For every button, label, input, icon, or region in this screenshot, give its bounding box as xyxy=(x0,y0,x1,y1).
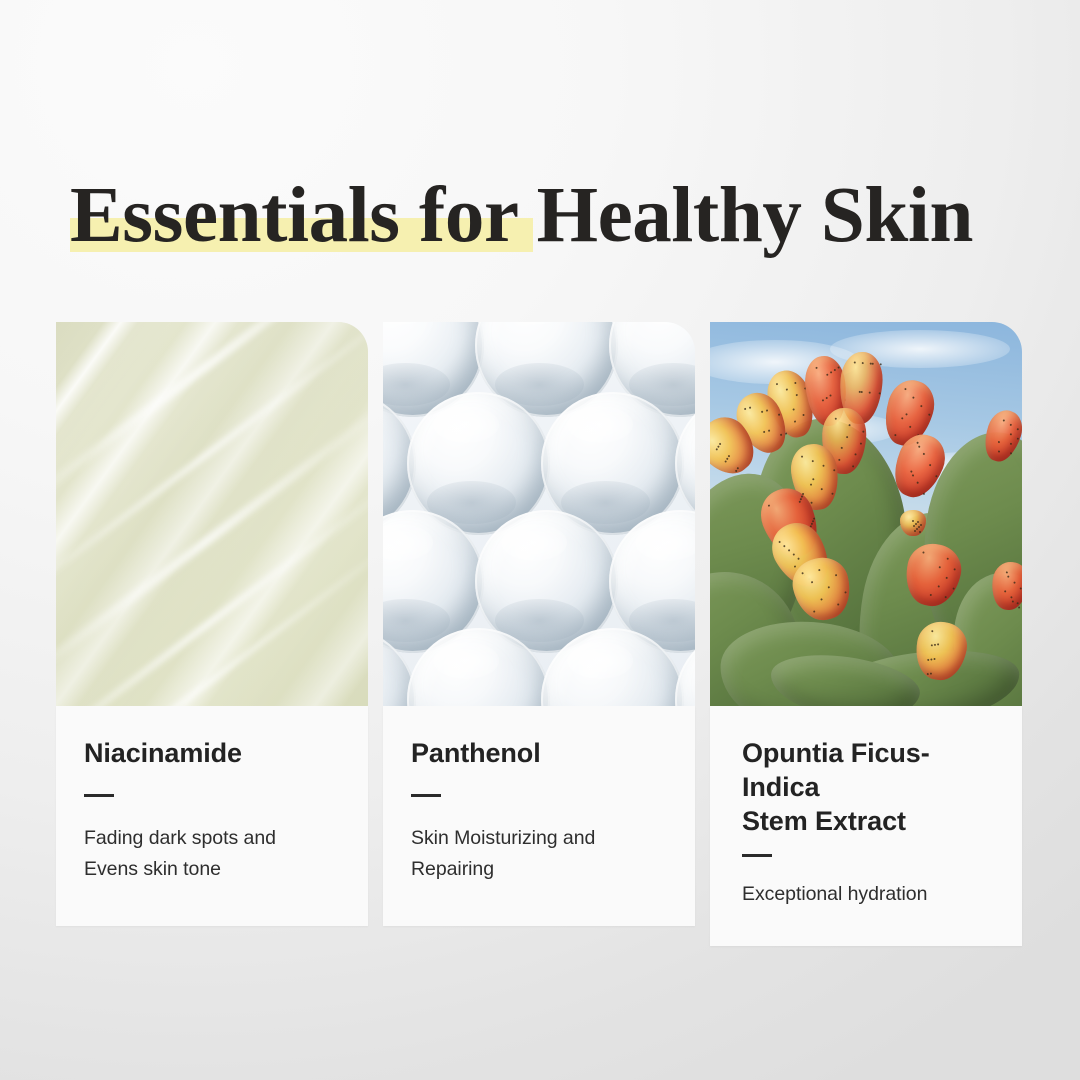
fruit-spine-shape xyxy=(855,453,857,455)
card-description-line: Evens skin tone xyxy=(84,854,340,885)
fruit-spine-shape xyxy=(838,459,840,461)
fruit-spine-shape xyxy=(801,455,803,457)
fruit-spine-shape xyxy=(826,374,828,376)
fruit-spine-shape xyxy=(786,388,788,390)
fruit-spine-shape xyxy=(1020,587,1022,589)
card-body: Niacinamide Fading dark spots and Evens … xyxy=(56,706,368,926)
fruit-spine-shape xyxy=(833,469,835,471)
fruit-spine-shape xyxy=(918,445,921,448)
page-title-block: Essentials for Healthy Skin xyxy=(70,172,973,264)
fruit-spine-shape xyxy=(872,363,874,365)
fruit-spine-shape xyxy=(917,521,919,523)
fruit-spine-shape xyxy=(783,545,786,548)
fruit-spine-shape xyxy=(861,391,863,393)
fruit-spine-shape xyxy=(798,500,801,503)
fruit-spine-shape xyxy=(1004,590,1006,592)
fruit-spine-shape xyxy=(835,574,837,576)
fruit-spine-shape xyxy=(820,598,822,600)
fruit-spine-shape xyxy=(830,371,832,373)
fruit-spine-shape xyxy=(796,394,798,396)
fruit-spine-shape xyxy=(834,369,836,371)
fruit-spine-shape xyxy=(920,524,922,526)
fruit-spine-shape xyxy=(792,408,794,410)
fruit-spine-shape xyxy=(946,577,948,579)
fruit-spine-shape xyxy=(937,643,939,645)
fruit-spine-shape xyxy=(1010,433,1013,436)
fruit-spine-shape xyxy=(844,591,846,593)
fruit-spine-shape xyxy=(1017,437,1020,440)
fruit-spine-shape xyxy=(923,493,926,496)
fruit-spine-shape xyxy=(812,460,814,462)
fruit-spine-shape xyxy=(944,596,946,598)
fruit-spine-shape xyxy=(918,526,920,528)
fruit-spine-shape xyxy=(880,363,882,365)
fruit-spine-shape xyxy=(916,441,919,444)
water-bubbles-texture-icon xyxy=(383,322,695,706)
fruit-spine-shape xyxy=(1010,596,1012,598)
card-description-line: Exceptional hydration xyxy=(742,879,994,910)
fruit-spine-shape xyxy=(736,467,739,470)
fruit-spine-shape xyxy=(724,460,727,463)
fruit-spine-shape xyxy=(1003,419,1006,422)
fruit-spine-shape xyxy=(838,366,840,368)
fruit-spine-shape xyxy=(854,361,856,363)
fruit-spine-shape xyxy=(860,443,862,445)
fruit-spine-shape xyxy=(715,448,718,451)
card-description: Exceptional hydration xyxy=(742,879,994,910)
card-title-line: Opuntia Ficus-Indica xyxy=(742,736,994,804)
page-title-text: Essentials for Healthy Skin xyxy=(70,172,973,259)
fruit-spine-shape xyxy=(894,434,896,436)
fruit-spine-shape xyxy=(797,557,800,560)
fruit-spine-shape xyxy=(837,603,839,605)
card-divider-rule xyxy=(84,794,114,797)
fruit-spine-shape xyxy=(768,504,771,507)
fruit-spine-shape xyxy=(931,630,933,632)
fruit-spine-shape xyxy=(766,409,769,412)
fruit-spine-shape xyxy=(912,520,914,522)
fruit-spine-shape xyxy=(1013,581,1015,583)
fruit-spine-shape xyxy=(792,553,795,556)
fruit-spine-shape xyxy=(794,382,796,384)
ingredient-highlight-graphic: { "theme": { "background_top": "#fbfbfb"… xyxy=(0,0,1080,1080)
fruit-spine-shape xyxy=(780,433,783,436)
fruit-spine-shape xyxy=(912,396,914,398)
fruit-spine-shape xyxy=(719,443,722,446)
fruit-spine-shape xyxy=(768,429,771,432)
fruit-spine-shape xyxy=(939,566,941,568)
fruit-spine-shape xyxy=(938,585,940,587)
fruit-spine-shape xyxy=(910,470,913,473)
card-title: Opuntia Ficus-Indica Stem Extract xyxy=(742,736,994,838)
card-description-line: Skin Moisturizing and xyxy=(411,823,667,854)
fruit-spine-shape xyxy=(1006,571,1008,573)
card-divider-rule xyxy=(742,854,772,857)
fruit-spine-shape xyxy=(828,586,830,588)
fruit-spine-shape xyxy=(810,483,812,485)
fruit-spine-shape xyxy=(776,383,778,385)
card-divider-rule xyxy=(411,794,441,797)
fruit-spine-shape xyxy=(930,672,932,674)
card-description: Skin Moisturizing and Repairing xyxy=(411,823,667,885)
fruit-spine-shape xyxy=(852,465,854,467)
fruit-spine-shape xyxy=(915,523,917,525)
card-description: Fading dark spots and Evens skin tone xyxy=(84,823,340,885)
fruit-spine-shape xyxy=(788,549,791,552)
card-body: Panthenol Skin Moisturizing and Repairin… xyxy=(383,706,695,926)
fruit-spine-shape xyxy=(778,413,781,416)
fruit-spine-shape xyxy=(920,405,922,407)
fruit-spine-shape xyxy=(1007,576,1009,578)
fruit-spine-shape xyxy=(810,502,812,504)
fruit-spine-shape xyxy=(930,658,932,660)
fruit-spine-shape xyxy=(859,391,861,393)
prickly-pear-cactus-photo-icon xyxy=(710,322,1022,706)
fruit-spine-shape xyxy=(933,658,935,660)
card-body: Opuntia Ficus-Indica Stem Extract Except… xyxy=(710,706,1022,946)
fruit-spine-shape xyxy=(931,644,933,646)
fruit-spine-shape xyxy=(916,481,919,484)
fruit-spine-shape xyxy=(1012,600,1014,602)
fruit-spine-shape xyxy=(928,413,930,415)
fruit-spine-shape xyxy=(922,551,924,553)
fruit-spine-shape xyxy=(794,420,796,422)
fruit-spine-shape xyxy=(870,363,872,365)
card-title: Niacinamide xyxy=(84,736,340,770)
fruit-spine-shape xyxy=(862,431,864,433)
fruit-spine-shape xyxy=(802,414,804,416)
fruit-spine-shape xyxy=(952,587,954,589)
fruit-spine-shape xyxy=(998,450,1001,453)
fruit-spine-shape xyxy=(735,470,738,473)
fruit-spine-shape xyxy=(935,475,938,478)
ingredient-card-opuntia-ficus-indica[interactable]: Opuntia Ficus-Indica Stem Extract Except… xyxy=(710,322,1022,946)
fruit-spine-shape xyxy=(801,572,803,574)
fruit-spine-shape xyxy=(744,408,747,411)
fruit-spine-shape xyxy=(831,493,833,495)
fruit-spine-shape xyxy=(913,525,915,527)
fruit-spine-shape xyxy=(815,367,817,369)
fruit-spine-shape xyxy=(1010,424,1013,427)
fruit-spine-shape xyxy=(778,541,781,544)
fruit-spine-shape xyxy=(1010,443,1013,446)
ingredient-card-row: Niacinamide Fading dark spots and Evens … xyxy=(56,322,1024,946)
fruit-spine-shape xyxy=(849,424,851,426)
fruit-spine-shape xyxy=(927,659,929,661)
fruit-spine-shape xyxy=(909,426,911,428)
fruit-spine-shape xyxy=(749,406,752,409)
card-description-line: Repairing xyxy=(411,854,667,885)
fruit-spine-shape xyxy=(929,464,932,467)
fruit-spine-shape xyxy=(841,447,843,449)
fruit-spine-shape xyxy=(919,531,921,533)
fruit-spine-shape xyxy=(717,445,720,448)
cream-texture-swatch-icon xyxy=(56,322,368,706)
fruit-spine-shape xyxy=(862,362,864,364)
ingredient-card-panthenol[interactable]: Panthenol Skin Moisturizing and Repairin… xyxy=(383,322,695,926)
fruit-spine-shape xyxy=(912,474,915,477)
fruit-spine-shape xyxy=(879,392,881,394)
fruit-spine-shape xyxy=(934,644,936,646)
fruit-spine-shape xyxy=(901,417,903,419)
page-title: Essentials for Healthy Skin xyxy=(70,172,973,260)
fruit-spine-shape xyxy=(829,394,831,396)
fruit-spine-shape xyxy=(869,392,871,394)
fruit-spine-shape xyxy=(763,431,766,434)
fruit-spine-shape xyxy=(1017,602,1019,604)
fruit-spine-shape xyxy=(812,478,814,480)
fruit-spine-shape xyxy=(846,436,848,438)
fruit-spine-shape xyxy=(835,418,837,420)
fruit-spine-shape xyxy=(813,610,815,612)
fruit-spine-shape xyxy=(905,413,907,415)
fruit-spine-shape xyxy=(914,530,916,532)
ingredient-card-niacinamide[interactable]: Niacinamide Fading dark spots and Evens … xyxy=(56,322,368,926)
fruit-spine-shape xyxy=(927,673,929,675)
fruit-spine-shape xyxy=(794,565,797,568)
fruit-spine-shape xyxy=(811,581,813,583)
card-title-line: Stem Extract xyxy=(742,804,994,838)
fruit-spine-shape xyxy=(998,441,1001,444)
fruit-spine-shape xyxy=(821,488,823,490)
fruit-spine-shape xyxy=(953,568,955,570)
fruit-spine-shape xyxy=(826,397,828,399)
fruit-spine-shape xyxy=(916,528,918,530)
fruit-spine-shape xyxy=(761,410,764,413)
card-title: Panthenol xyxy=(411,736,667,770)
fruit-spine-shape xyxy=(726,457,729,460)
fruit-spine-shape xyxy=(818,569,820,571)
fruit-spine-shape xyxy=(822,399,824,401)
fruit-spine-shape xyxy=(1017,428,1020,431)
card-description-line: Fading dark spots and xyxy=(84,823,340,854)
fruit-spine-shape xyxy=(822,465,824,467)
fruit-spine-shape xyxy=(728,455,731,458)
fruit-spine-shape xyxy=(923,453,926,456)
fruit-spine-shape xyxy=(930,594,932,596)
fruit-spine-shape xyxy=(904,388,906,390)
fruit-spine-shape xyxy=(947,558,949,560)
